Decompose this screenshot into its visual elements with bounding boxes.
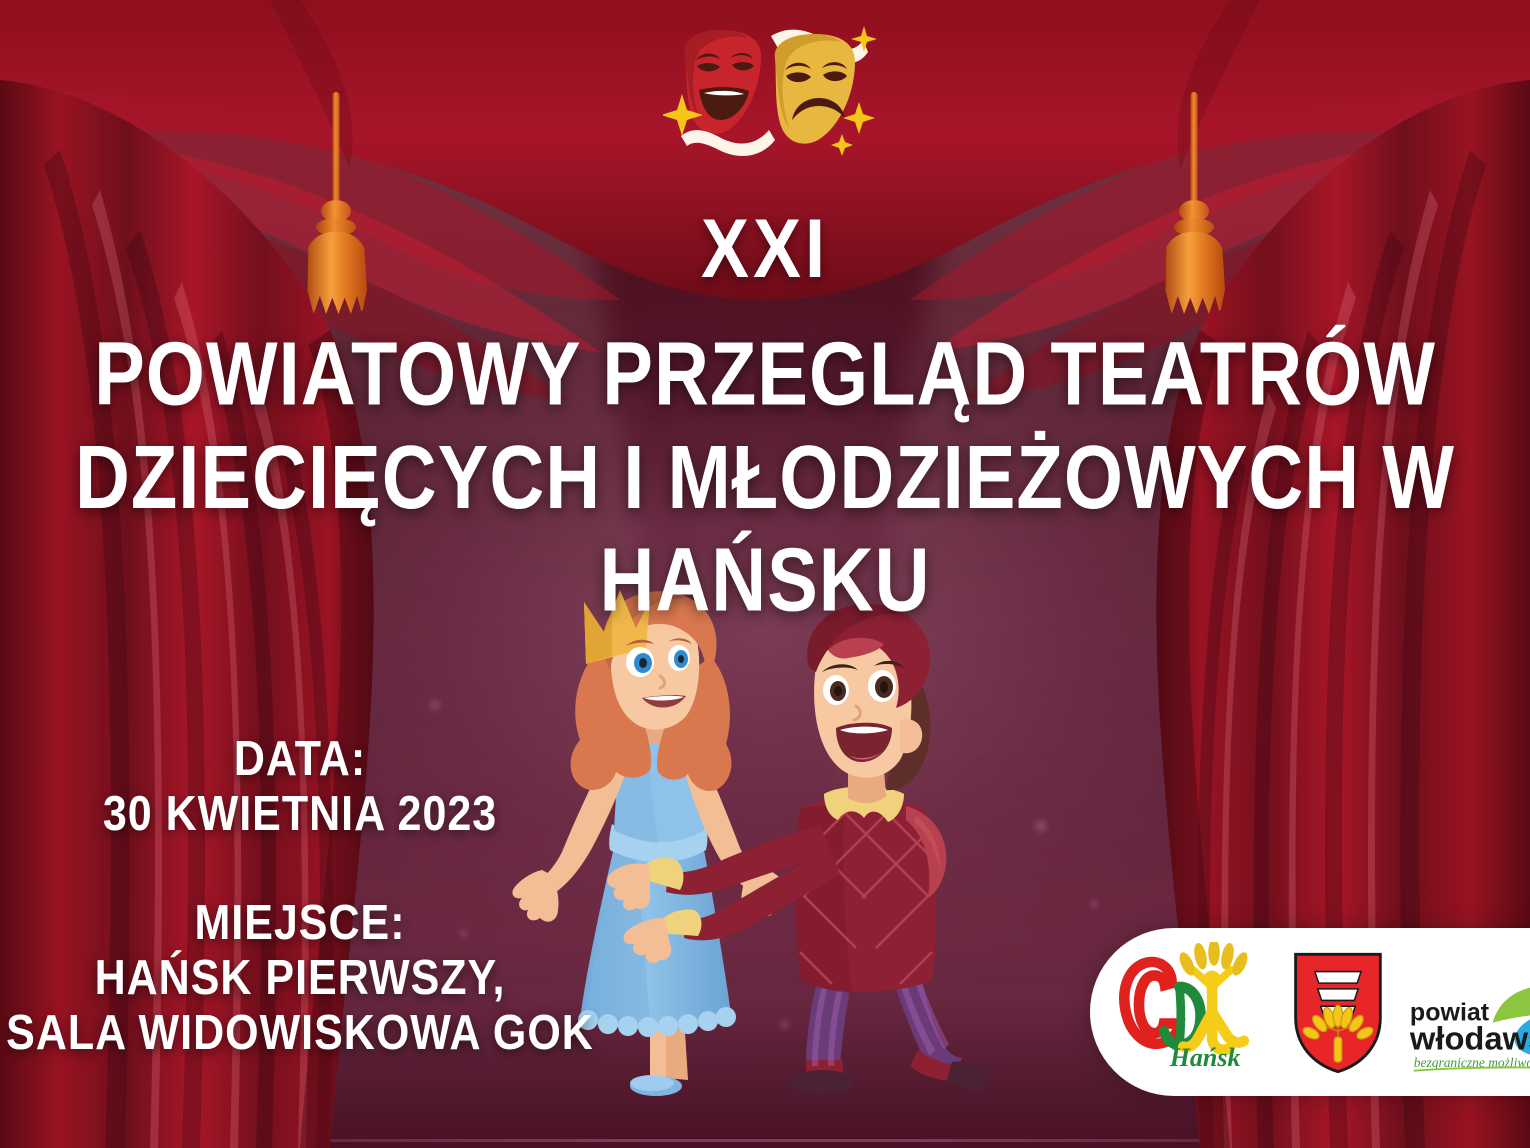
stage-characters [500, 580, 1060, 1120]
sponsor-logo-bar: Hańsk [1090, 928, 1530, 1096]
gok-logo-town-label: Hańsk [1169, 1043, 1241, 1072]
curtain-tassel-right [1163, 92, 1225, 322]
powiat-wlodawski-logo: powiat włodawski bezgraniczne możliwości [1408, 947, 1530, 1077]
theatre-festival-poster: XXI POWIATOWY PRZEGLĄD TEATRÓW DZIECIĘCY… [0, 0, 1530, 1148]
gok-hansk-logo: Hańsk [1112, 942, 1266, 1082]
bokeh-dot [460, 930, 467, 937]
theatre-masks-icon [663, 18, 893, 168]
bokeh-dot [1090, 900, 1098, 908]
powiat-line-2: włodawski [1409, 1020, 1530, 1057]
curtain-tassel-left [305, 92, 367, 322]
coat-of-arms-hansk [1286, 942, 1390, 1082]
bokeh-dot [430, 700, 440, 710]
princess-character [512, 590, 787, 1096]
